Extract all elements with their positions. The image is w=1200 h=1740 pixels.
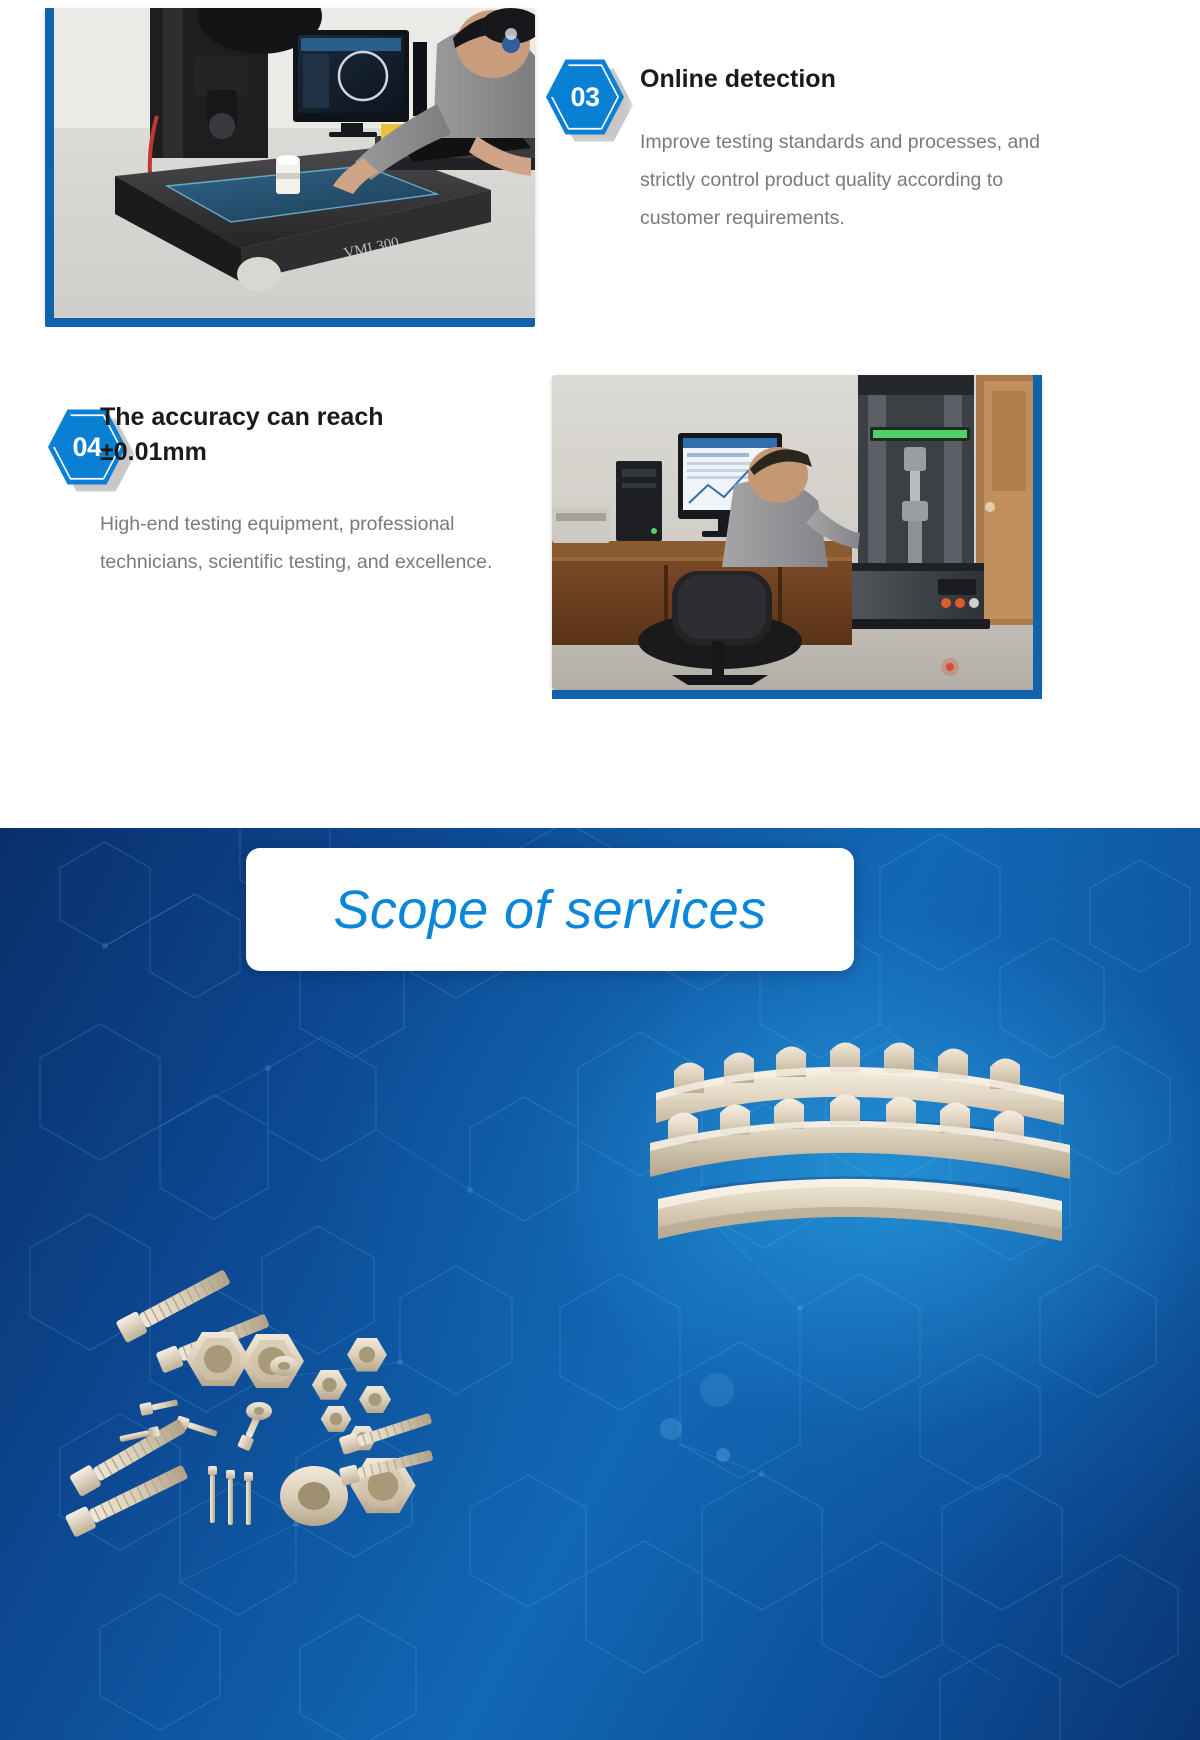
photo-left-accent-bar <box>45 8 54 318</box>
photo-bottom-accent-bar <box>552 690 1042 699</box>
photo-bottom-accent-bar <box>45 318 535 327</box>
feature-04-title: The accuracy can reach ±0.01mm <box>100 400 460 469</box>
peek-screws-nuts-bolts-image <box>40 1260 470 1550</box>
feature-03-body: Improve testing standards and processes,… <box>640 123 1040 237</box>
feature-04-text: The accuracy can reach ±0.01mm High-end … <box>100 400 530 581</box>
peek-screws-photo <box>40 1260 470 1550</box>
peek-chain-parts-photo <box>650 1035 1070 1270</box>
scope-banner: Scope of services <box>246 848 854 971</box>
photo-right-accent-bar <box>1033 375 1042 690</box>
testing-equipment-photo <box>552 375 1042 690</box>
glow-dot <box>660 1418 682 1440</box>
feature-04-body: High-end testing equipment, professional… <box>100 505 530 581</box>
glow-dot <box>700 1373 734 1407</box>
vision-measuring-machine-image: VML300 <box>45 8 535 318</box>
feature-03-text: Online detection Improve testing standar… <box>640 62 1040 237</box>
feature-03-title: Online detection <box>640 62 1040 97</box>
glow-dot <box>716 1448 730 1462</box>
badge-number: 03 <box>546 58 624 136</box>
features-section: VML300 03 Online detection Improve testi… <box>0 0 1200 828</box>
feature-badge-03: 03 <box>546 58 624 136</box>
peek-chain-conveyor-image <box>650 1035 1070 1270</box>
online-detection-photo: VML300 <box>45 8 535 318</box>
universal-testing-machine-image <box>552 375 1042 690</box>
scope-banner-title: Scope of services <box>334 879 767 941</box>
